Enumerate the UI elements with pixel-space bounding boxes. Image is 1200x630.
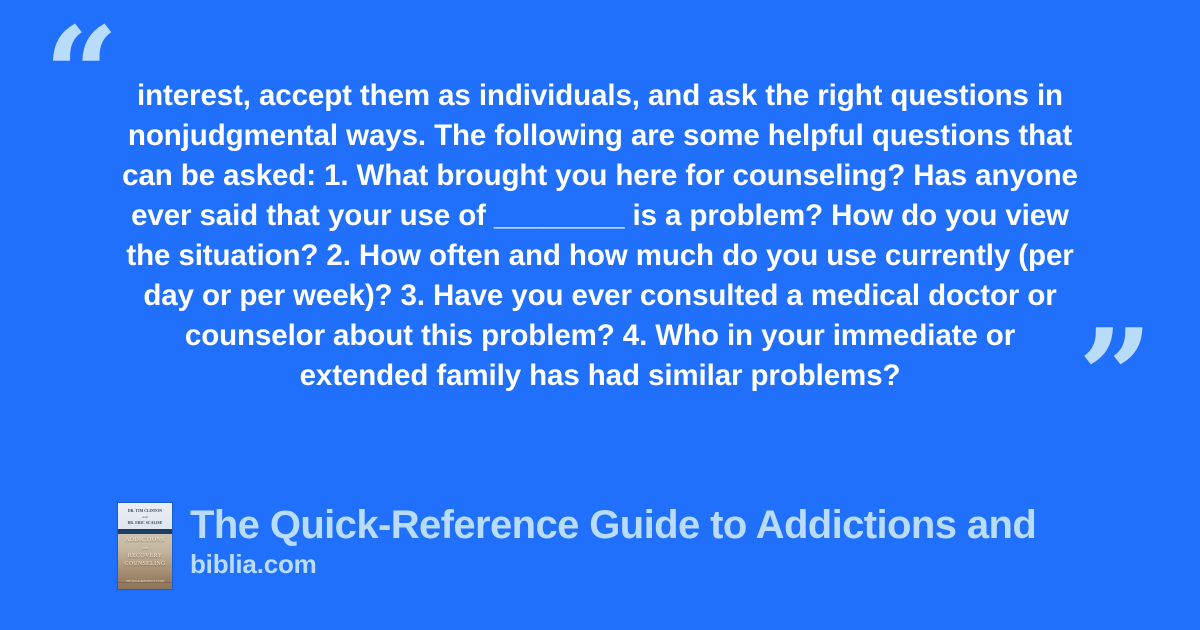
book-cover-author-2: DR. ERIC SCALISE xyxy=(118,520,172,526)
opening-quote-icon: “ xyxy=(44,10,117,140)
site-name[interactable]: biblia.com xyxy=(190,549,1036,579)
book-cover-thumbnail[interactable]: DR. TIM CLINTON and DR. ERIC SCALISE ADD… xyxy=(118,503,172,589)
closing-quote-icon: ” xyxy=(1078,312,1151,442)
quote-card: “ interest, accept them as individuals, … xyxy=(0,0,1200,630)
footer-text-block: The Quick-Reference Guide to Addictions … xyxy=(190,503,1036,579)
book-cover-series-line: THE QUICK-REFERENCE GUIDE xyxy=(118,580,172,584)
quote-text: interest, accept them as individuals, an… xyxy=(120,76,1080,396)
book-cover-title: ADDICTIONS and RECOVERY COUNSELING xyxy=(118,536,172,568)
book-cover-title-2: RECOVERY xyxy=(118,552,172,560)
book-cover-authors: DR. TIM CLINTON and DR. ERIC SCALISE xyxy=(118,508,172,526)
book-cover-title-1: ADDICTIONS xyxy=(118,536,172,544)
book-title[interactable]: The Quick-Reference Guide to Addictions … xyxy=(190,503,1036,547)
book-cover-title-3: COUNSELING xyxy=(118,560,172,568)
book-cover-title-conjunction: and xyxy=(118,544,172,552)
footer-attribution[interactable]: DR. TIM CLINTON and DR. ERIC SCALISE ADD… xyxy=(118,503,1036,589)
